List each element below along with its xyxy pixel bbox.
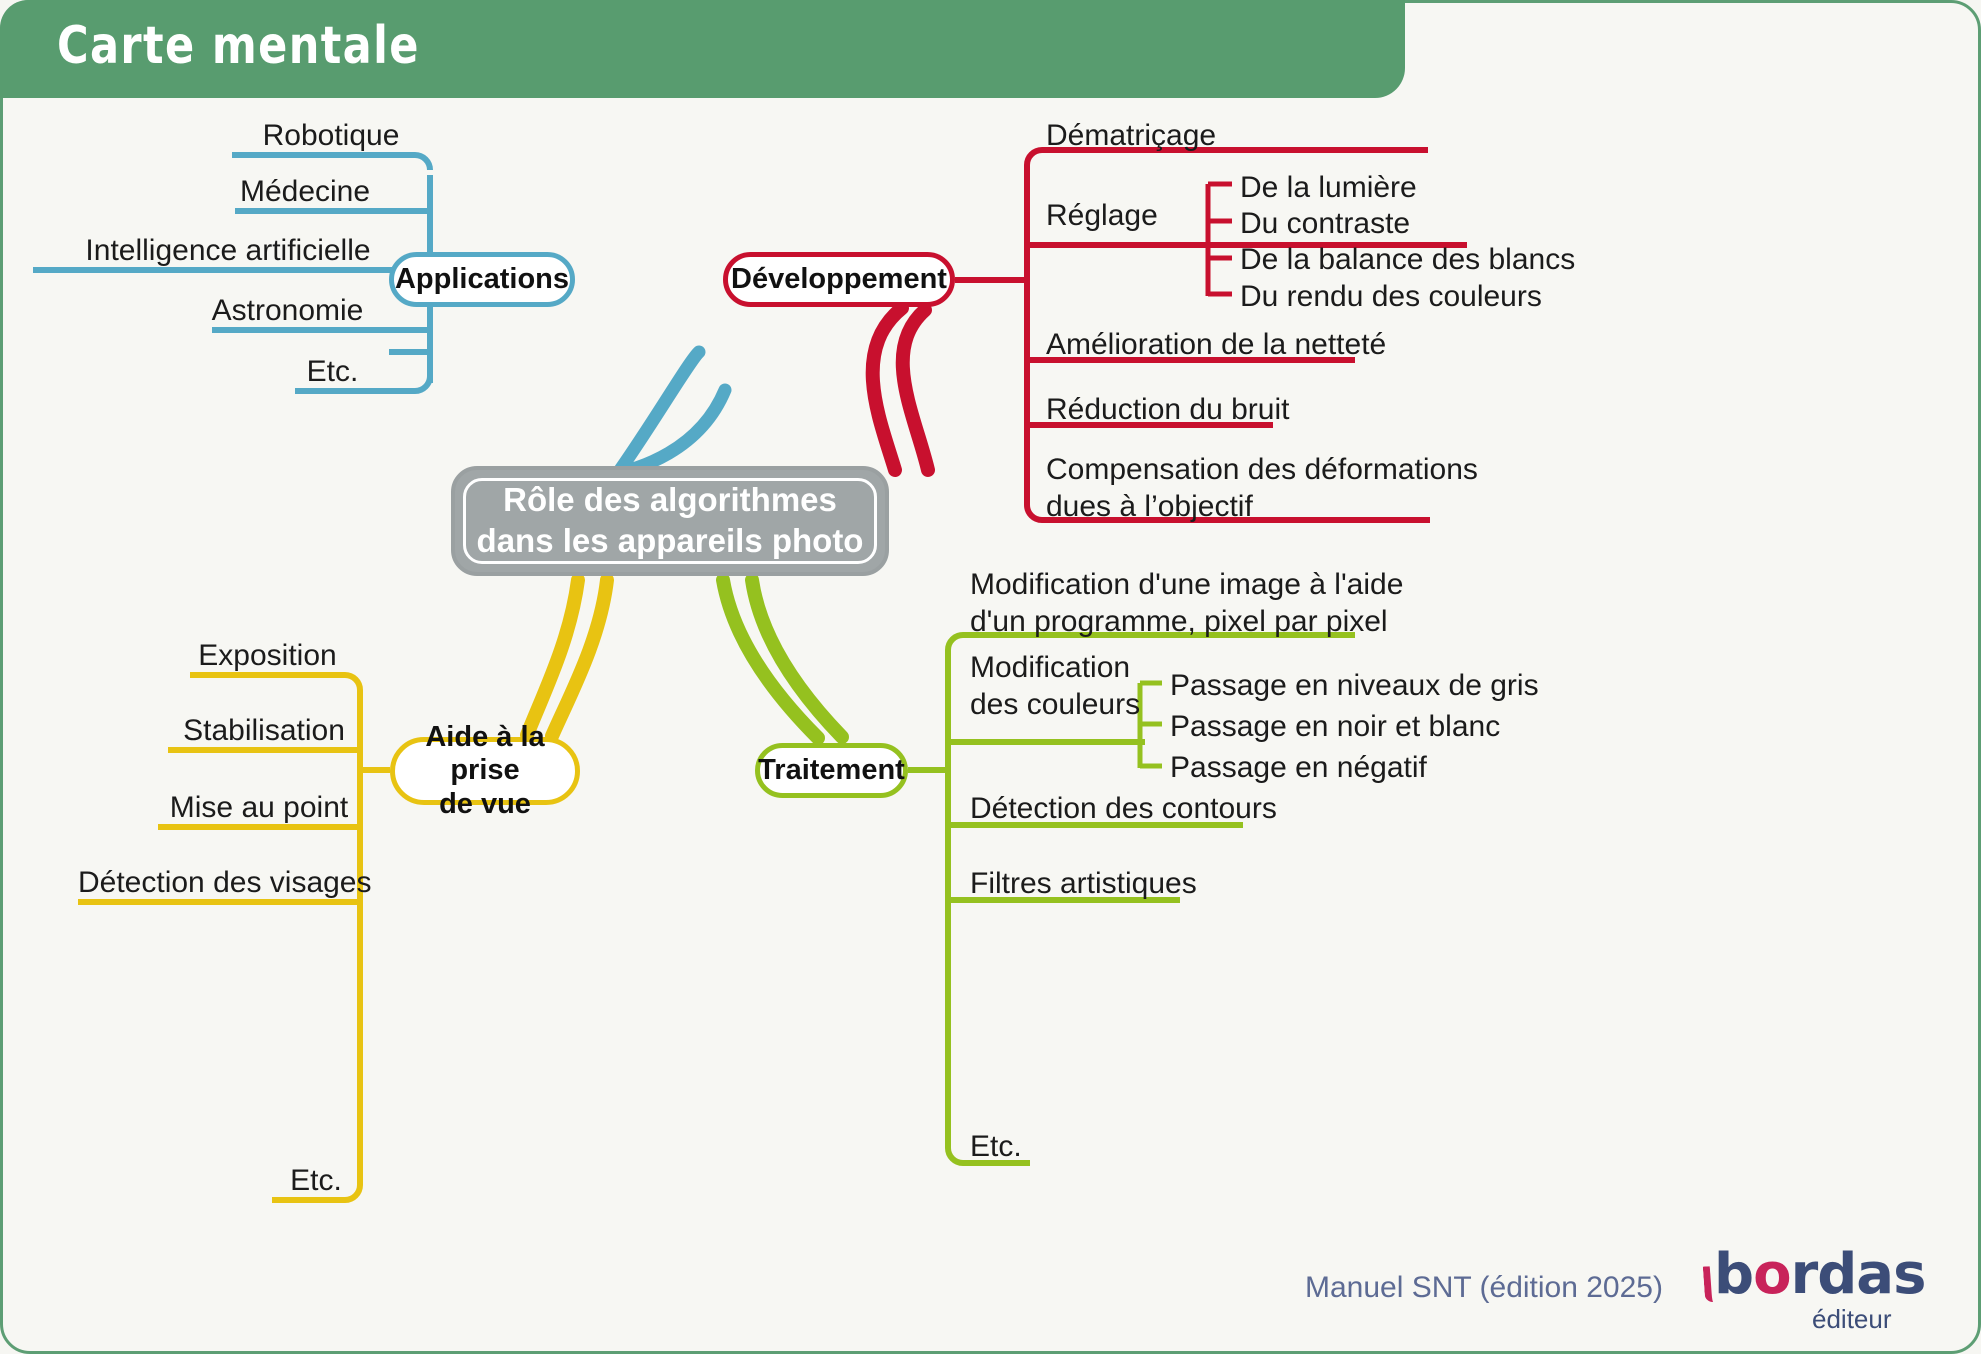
branch-node-traitement[interactable]: Traitement xyxy=(755,743,908,798)
footer-credit: Manuel SNT (édition 2025) xyxy=(1305,1271,1663,1305)
leaf-trait-niveaux-de-gris: Passage en niveaux de gris xyxy=(1170,668,1539,705)
mindmap-page: Carte mentale xyxy=(0,0,1981,1354)
leaf-dev-nettete: Amélioration de la netteté xyxy=(1046,327,1386,364)
leaf-dev-reduction-bruit: Réduction du bruit xyxy=(1046,392,1290,429)
bordas-logo: bordas éditeur xyxy=(1692,1246,1942,1338)
branch-node-developpement[interactable]: Développement xyxy=(723,252,955,307)
leaf-dev-dematricage: Dématriçage xyxy=(1046,118,1216,155)
logo-word-o: o xyxy=(1753,1242,1790,1307)
leaf-aide-stabilisation: Stabilisation xyxy=(168,713,360,750)
leaf-dev-reglage-rendu-couleurs: Du rendu des couleurs xyxy=(1240,279,1542,316)
leaf-aide-exposition: Exposition xyxy=(190,638,345,675)
leaf-dev-reglage-contraste: Du contraste xyxy=(1240,206,1410,243)
leaf-aide-mise-au-point: Mise au point xyxy=(158,790,360,827)
logo-word-post: rdas xyxy=(1791,1242,1926,1307)
logo-wordmark: bordas xyxy=(1714,1242,1925,1307)
leaf-applications-ia: Intelligence artificielle xyxy=(33,233,423,270)
central-topic-label: Rôle des algorithmes dans les appareils … xyxy=(463,478,877,564)
leaf-dev-compensation-deformations: Compensation des déformations dues à l’o… xyxy=(1046,452,1478,525)
leaf-applications-robotique: Robotique xyxy=(232,118,430,155)
leaf-trait-detection-contours: Détection des contours xyxy=(970,791,1277,828)
leaf-dev-reglage: Réglage xyxy=(1046,198,1158,235)
logo-word-pre: b xyxy=(1714,1242,1753,1307)
leaf-applications-astronomie: Astronomie xyxy=(160,293,415,330)
leaf-trait-negatif: Passage en négatif xyxy=(1170,750,1427,787)
leaf-trait-noir-et-blanc: Passage en noir et blanc xyxy=(1170,709,1500,746)
leaf-trait-filtres-artistiques: Filtres artistiques xyxy=(970,866,1197,903)
leaf-trait-etc: Etc. xyxy=(970,1129,1022,1166)
leaf-trait-modification-couleurs: Modification des couleurs xyxy=(970,650,1140,723)
branch-node-aide[interactable]: Aide à la prise de vue xyxy=(390,737,580,805)
leaf-applications-medecine: Médecine xyxy=(190,174,420,211)
central-topic-node[interactable]: Rôle des algorithmes dans les appareils … xyxy=(451,466,889,576)
leaf-applications-etc: Etc. xyxy=(250,354,415,391)
leaf-trait-modification-image: Modification d'une image à l'aide d'un p… xyxy=(970,567,1403,640)
leaf-dev-reglage-lumiere: De la lumière xyxy=(1240,170,1417,207)
logo-subtitle: éditeur xyxy=(1812,1304,1892,1335)
leaf-aide-etc: Etc. xyxy=(272,1163,360,1200)
leaf-dev-reglage-balance-blancs: De la balance des blancs xyxy=(1240,242,1575,279)
leaf-aide-detection-visages: Détection des visages xyxy=(78,865,360,902)
